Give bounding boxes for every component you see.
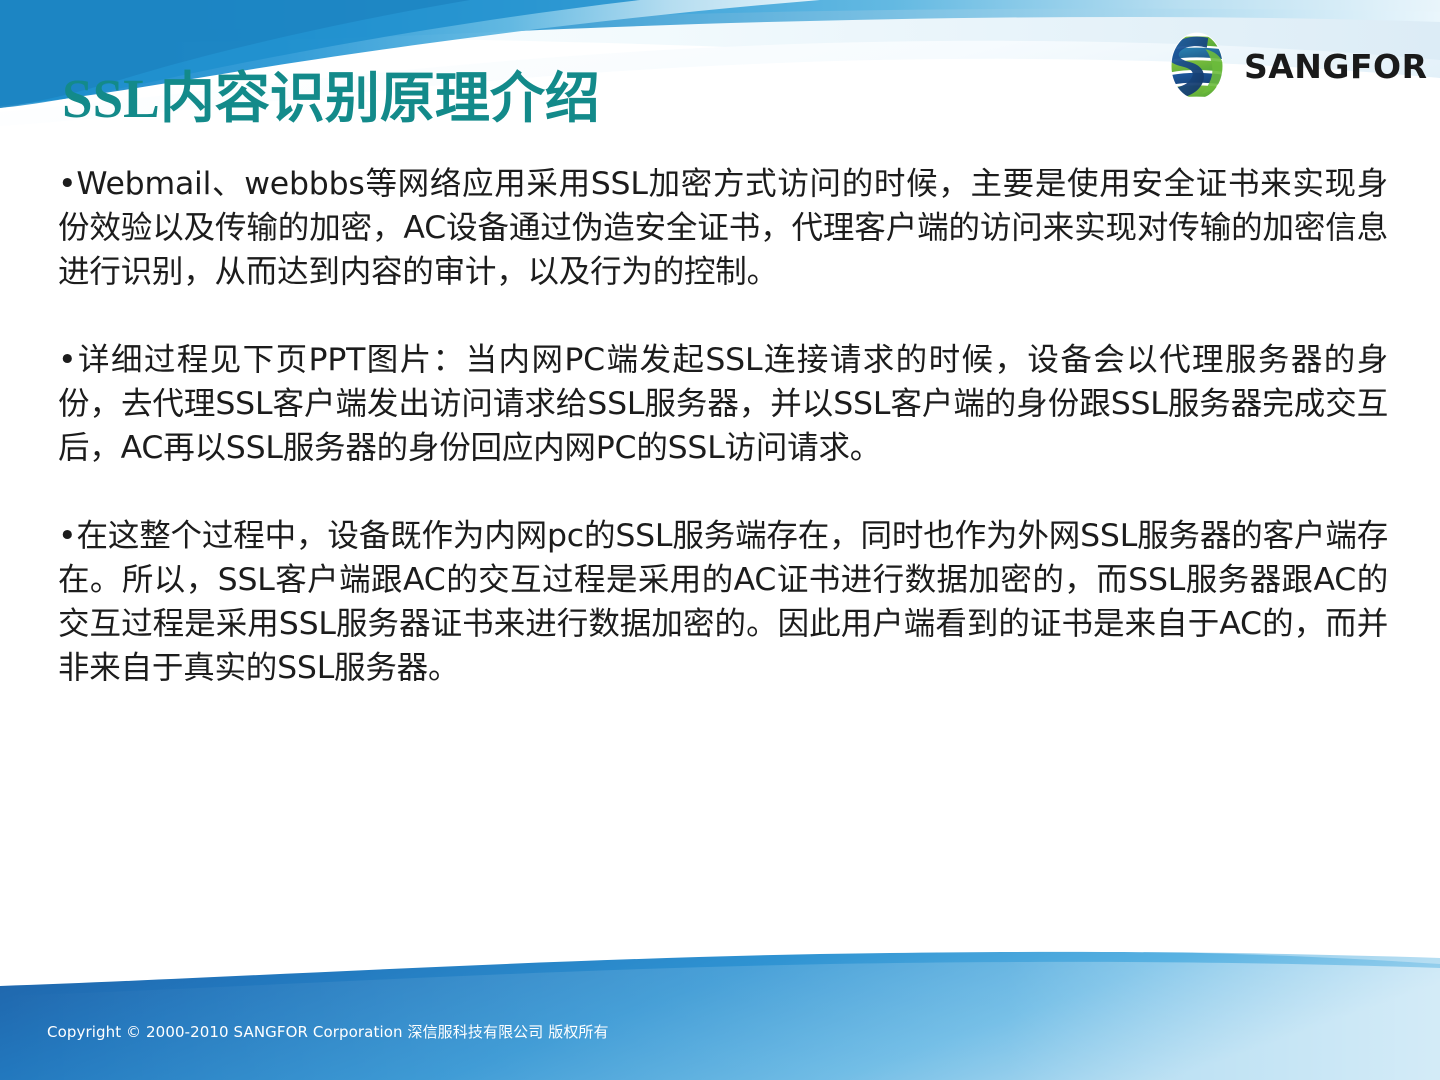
- paragraph-text-3: 在这整个过程中，设备既作为内网pc的SSL服务端存在，同时也作为外网SSL服务器…: [58, 518, 1388, 686]
- body-paragraph-1: •Webmail、webbbs等网络应用采用SSL加密方式访问的时候，主要是使用…: [58, 162, 1388, 294]
- bullet-1: •: [58, 166, 76, 202]
- bullet-3: •: [58, 518, 76, 554]
- paragraph-text-1: Webmail、webbbs等网络应用采用SSL加密方式访问的时候，主要是使用安…: [58, 166, 1388, 290]
- body-paragraph-2: •详细过程见下页PPT图片：当内网PC端发起SSL连接请求的时候，设备会以代理服…: [58, 338, 1388, 470]
- bullet-2: •: [58, 342, 76, 378]
- sangfor-logo: SANGFOR: [1162, 30, 1422, 102]
- slide-canvas: SANGFOR SSL内容识别原理介绍 •Webmail、webbbs等网络应用…: [0, 0, 1440, 1080]
- sangfor-wordmark: SANGFOR: [1244, 50, 1428, 83]
- paragraph-text-2: 详细过程见下页PPT图片：当内网PC端发起SSL连接请求的时候，设备会以代理服务…: [58, 342, 1388, 466]
- slide-title: SSL内容识别原理介绍: [62, 70, 600, 128]
- body-paragraph-3: •在这整个过程中，设备既作为内网pc的SSL服务端存在，同时也作为外网SSL服务…: [58, 514, 1388, 690]
- sangfor-globe-icon: [1162, 31, 1232, 101]
- footer-decoration-banner: [0, 950, 1440, 1080]
- slide-body: •Webmail、webbbs等网络应用采用SSL加密方式访问的时候，主要是使用…: [58, 162, 1388, 690]
- footer-copyright: Copyright © 2000-2010 SANGFOR Corporatio…: [47, 1021, 609, 1042]
